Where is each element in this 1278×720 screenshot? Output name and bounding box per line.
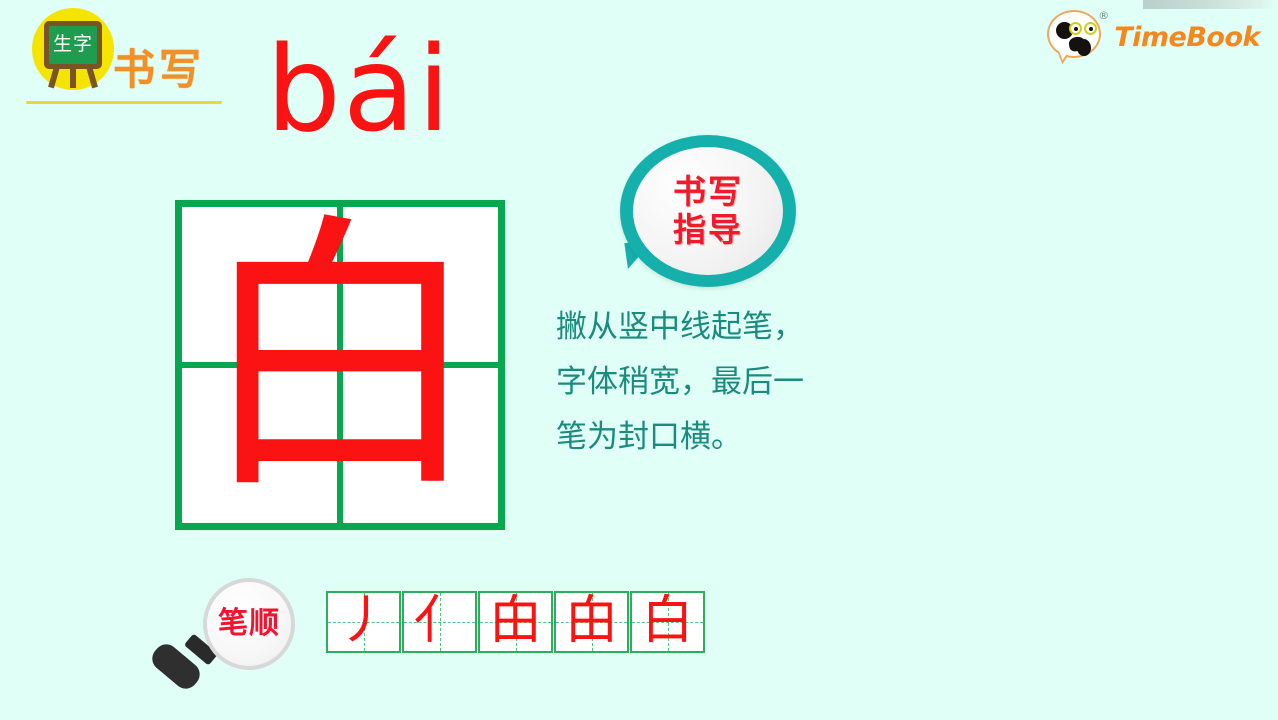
target-character: 白 bbox=[182, 207, 498, 523]
stroke-step-glyph: 甶 bbox=[556, 593, 627, 651]
pinyin-label: bái bbox=[266, 28, 452, 152]
badge-label: 生字 bbox=[53, 35, 93, 54]
stroke-step-cell: 白 bbox=[630, 591, 705, 653]
guidance-bubble: 书写 指导 bbox=[620, 135, 796, 287]
character-grid: 白 bbox=[175, 200, 505, 530]
stroke-step-glyph: 亻 bbox=[404, 593, 475, 651]
stroke-step-cell: 甶 bbox=[478, 591, 553, 653]
blackboard-face: 生字 bbox=[49, 26, 97, 64]
new-character-badge: 生字 bbox=[24, 4, 120, 96]
title-underline bbox=[26, 101, 222, 104]
brand-logo: ® TimeBook bbox=[1044, 8, 1260, 66]
stroke-step-cell: 甶 bbox=[554, 591, 629, 653]
stroke-step-glyph: 甶 bbox=[480, 593, 551, 651]
stroke-step-cell: 丿 bbox=[326, 591, 401, 653]
lesson-stage: 生字 书写 bái ® TimeBook 白 bbox=[0, 0, 1278, 720]
brand-name: TimeBook bbox=[1114, 24, 1260, 51]
guidance-bubble-inner: 书写 指导 bbox=[633, 147, 783, 275]
magnifier-icon: 笔顺 bbox=[203, 578, 295, 670]
pupil-right bbox=[1089, 27, 1093, 31]
easel-leg-middle bbox=[70, 66, 76, 88]
stroke-order-magnifier: 笔顺 bbox=[143, 578, 321, 700]
pupil-left bbox=[1074, 27, 1078, 31]
stroke-step-glyph: 丿 bbox=[328, 593, 399, 651]
registered-mark: ® bbox=[1098, 10, 1109, 21]
guidance-paragraph: 撇从竖中线起笔，字体稍宽，最后一笔为封口横。 bbox=[556, 300, 818, 465]
dog-body bbox=[1077, 39, 1091, 56]
stroke-step-cell: 亻 bbox=[402, 591, 477, 653]
stroke-order-sequence: 丿 亻 甶 甶 白 bbox=[326, 591, 705, 653]
stroke-step-glyph: 白 bbox=[632, 593, 703, 651]
blackboard-icon: 生字 bbox=[44, 21, 102, 69]
page-title: 书写 bbox=[113, 49, 205, 91]
dog-speech-bubble-icon: ® bbox=[1044, 9, 1106, 65]
stroke-order-label: 笔顺 bbox=[218, 609, 280, 639]
guidance-title-line1: 书写 bbox=[673, 174, 743, 210]
guidance-title-line2: 指导 bbox=[673, 212, 743, 248]
